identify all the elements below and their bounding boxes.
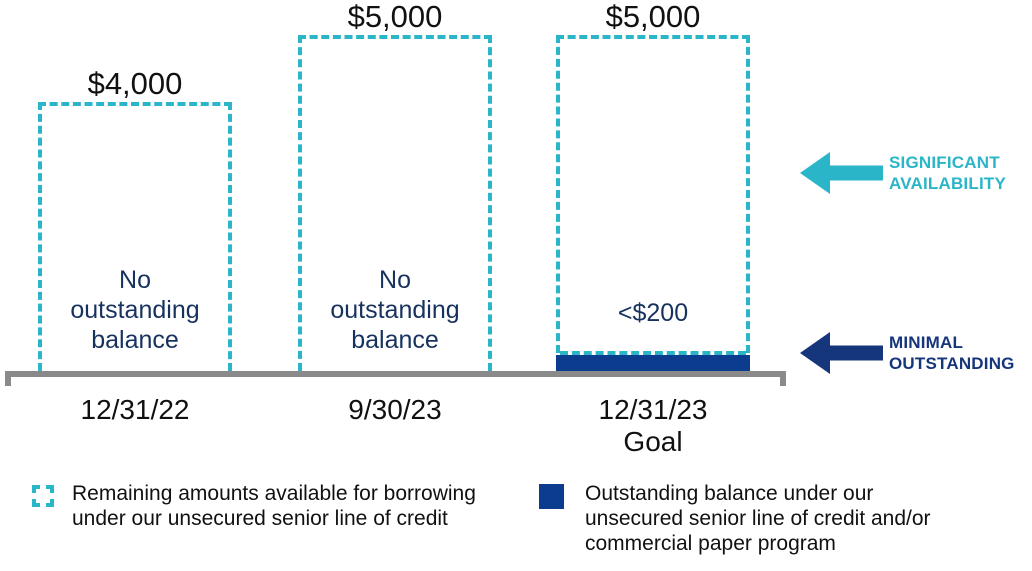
bar-value-label-1: $4,000 [38, 68, 232, 99]
legend-item-outstanding-label: Outstanding balance under our unsecured … [585, 481, 931, 556]
bar-inner-label-1-line3: balance [38, 325, 232, 355]
bar-inner-label-1-line1: No [38, 265, 232, 295]
annotation-significant-availability-text: SIGNIFICANT AVAILABILITY [889, 152, 1006, 194]
bar-inner-label-3-line1: <$200 [556, 298, 750, 328]
left-arrow-icon [800, 152, 883, 194]
annotation-minimal-outstanding: MINIMAL OUTSTANDING [800, 332, 1015, 374]
bar-outstanding-3 [556, 355, 750, 371]
legend-item-outstanding: Outstanding balance under our unsecured … [539, 481, 1009, 556]
category-label-3: 12/31/23 Goal [556, 394, 750, 458]
bar-value-label-2: $5,000 [298, 1, 492, 32]
category-label-3-line2: Goal [556, 426, 750, 458]
bar-inner-label-2: No outstanding balance [298, 265, 492, 355]
category-label-1: 12/31/22 [38, 394, 232, 426]
x-axis-tick-right [780, 371, 786, 386]
legend-item-available-label: Remaining amounts available for borrowin… [72, 481, 476, 531]
bar-inner-label-2-line2: outstanding [298, 295, 492, 325]
category-label-3-line1: 12/31/23 [556, 394, 750, 426]
bar-inner-label-2-line1: No [298, 265, 492, 295]
annotation-minimal-outstanding-text: MINIMAL OUTSTANDING [889, 332, 1015, 374]
bar-inner-label-1: No outstanding balance [38, 265, 232, 355]
legend-2-line2: unsecured senior line of credit and/or [585, 506, 931, 531]
annotation-1-line1: SIGNIFICANT [889, 152, 1006, 173]
legend-item-available: Remaining amounts available for borrowin… [32, 481, 522, 531]
bar-inner-label-3: <$200 [556, 298, 750, 328]
bar-value-label-3: $5,000 [556, 1, 750, 32]
annotation-significant-availability: SIGNIFICANT AVAILABILITY [800, 152, 1006, 194]
annotation-2-line2: OUTSTANDING [889, 353, 1015, 374]
x-axis-line [5, 371, 786, 377]
x-axis-tick-left [5, 371, 11, 386]
legend-2-line3: commercial paper program [585, 531, 931, 556]
legend-swatch-solid-icon [539, 484, 564, 509]
legend-swatch-dashed-icon [32, 485, 54, 507]
legend-2-line1: Outstanding balance under our [585, 481, 931, 506]
legend-1-line1: Remaining amounts available for borrowin… [72, 481, 476, 506]
legend-1-line2: under our unsecured senior line of credi… [72, 506, 476, 531]
category-label-2: 9/30/23 [298, 394, 492, 426]
annotation-2-line1: MINIMAL [889, 332, 1015, 353]
bar-inner-label-1-line2: outstanding [38, 295, 232, 325]
category-label-2-line1: 9/30/23 [298, 394, 492, 426]
left-arrow-icon [800, 332, 883, 374]
category-label-1-line1: 12/31/22 [38, 394, 232, 426]
credit-availability-chart: $4,000 No outstanding balance $5,000 No … [0, 0, 1032, 571]
bar-inner-label-2-line3: balance [298, 325, 492, 355]
annotation-1-line2: AVAILABILITY [889, 173, 1006, 194]
